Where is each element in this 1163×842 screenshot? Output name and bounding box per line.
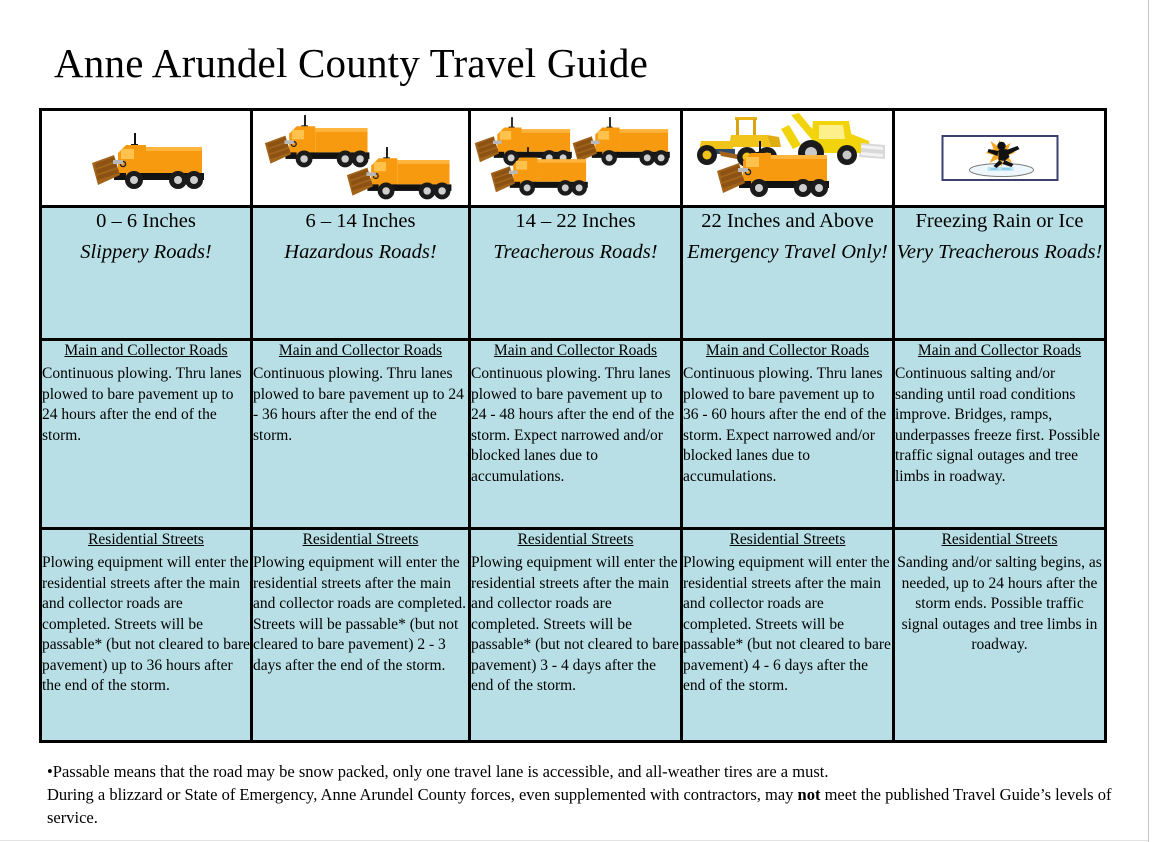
- main-roads-text-5: Continuous salting and/or sanding until …: [895, 364, 1104, 487]
- main-roads-heading-3: Main and Collector Roads: [471, 341, 680, 361]
- main-roads-cell-4: Main and Collector Roads Continuous plow…: [682, 340, 894, 529]
- category-cell-1: 0 – 6 Inches Slippery Roads!: [41, 207, 252, 340]
- category-condition-3: Treacherous Roads!: [471, 239, 680, 266]
- category-condition-5: Very Treacherous Roads!: [895, 239, 1104, 266]
- table-row-icons: [41, 110, 1106, 207]
- category-depth-5: Freezing Rain or Ice: [895, 208, 1104, 235]
- main-roads-heading-4: Main and Collector Roads: [683, 341, 892, 361]
- snow-plow-truck-icon: [713, 141, 837, 203]
- page-edge-right: [1148, 0, 1149, 842]
- category-condition-2: Hazardous Roads!: [253, 239, 468, 266]
- snow-plow-truck-icon: [90, 133, 210, 195]
- main-roads-heading-2: Main and Collector Roads: [253, 341, 468, 361]
- person-slipping-on-ice-glyph: [943, 137, 1056, 179]
- residential-heading-1: Residential Streets: [42, 530, 250, 550]
- main-roads-cell-3: Main and Collector Roads Continuous plow…: [470, 340, 682, 529]
- person-slipping-on-ice-icon: [941, 135, 1058, 181]
- footnote-line-2-part-a: During a blizzard or State of Emergency,…: [47, 785, 798, 804]
- snow-plow-truck-icon: [42, 111, 250, 205]
- icon-cell-6-14-inches: [252, 110, 470, 207]
- category-condition-1: Slippery Roads!: [42, 239, 250, 266]
- icon-cell-freezing-rain-or-ice: [894, 110, 1106, 207]
- residential-heading-5: Residential Streets: [895, 530, 1104, 550]
- icon-cell-14-22-inches: [470, 110, 682, 207]
- snow-plow-truck-icon: [345, 147, 457, 205]
- category-cell-3: 14 – 22 Inches Treacherous Roads!: [470, 207, 682, 340]
- residential-heading-3: Residential Streets: [471, 530, 680, 550]
- main-roads-cell-2: Main and Collector Roads Continuous plow…: [252, 340, 470, 529]
- category-depth-1: 0 – 6 Inches: [42, 208, 250, 235]
- table-row-residential-streets: Residential Streets Plowing equipment wi…: [41, 529, 1106, 742]
- category-depth-4: 22 Inches and Above: [683, 208, 892, 235]
- residential-text-5: Sanding and/or salting begins, as needed…: [895, 553, 1104, 656]
- main-roads-heading-1: Main and Collector Roads: [42, 341, 250, 361]
- table-row-main-collector-roads: Main and Collector Roads Continuous plow…: [41, 340, 1106, 529]
- category-condition-4: Emergency Travel Only!: [683, 239, 892, 266]
- page-title: Anne Arundel County Travel Guide: [54, 38, 648, 88]
- page-edge-bottom: [0, 840, 1148, 841]
- footnote-line-1: •Passable means that the road may be sno…: [47, 760, 1117, 783]
- main-roads-heading-5: Main and Collector Roads: [895, 341, 1104, 361]
- residential-text-1: Plowing equipment will enter the residen…: [42, 553, 250, 697]
- category-cell-2: 6 – 14 Inches Hazardous Roads!: [252, 207, 470, 340]
- footnote: •Passable means that the road may be sno…: [47, 760, 1117, 829]
- residential-cell-3: Residential Streets Plowing equipment wi…: [470, 529, 682, 742]
- category-cell-5: Freezing Rain or Ice Very Treacherous Ro…: [894, 207, 1106, 340]
- main-roads-text-3: Continuous plowing. Thru lanes plowed to…: [471, 364, 680, 487]
- residential-cell-2: Residential Streets Plowing equipment wi…: [252, 529, 470, 742]
- table-row-categories: 0 – 6 Inches Slippery Roads! 6 – 14 Inch…: [41, 207, 1106, 340]
- travel-guide-table: 0 – 6 Inches Slippery Roads! 6 – 14 Inch…: [39, 108, 1107, 743]
- residential-heading-2: Residential Streets: [253, 530, 468, 550]
- category-depth-2: 6 – 14 Inches: [253, 208, 468, 235]
- residential-text-4: Plowing equipment will enter the residen…: [683, 553, 892, 697]
- category-cell-4: 22 Inches and Above Emergency Travel Onl…: [682, 207, 894, 340]
- footnote-line-2: During a blizzard or State of Emergency,…: [47, 783, 1117, 829]
- residential-heading-4: Residential Streets: [683, 530, 892, 550]
- category-depth-3: 14 – 22 Inches: [471, 208, 680, 235]
- main-roads-text-1: Continuous plowing. Thru lanes plowed to…: [42, 364, 250, 446]
- main-roads-text-2: Continuous plowing. Thru lanes plowed to…: [253, 364, 468, 446]
- residential-cell-1: Residential Streets Plowing equipment wi…: [41, 529, 252, 742]
- main-roads-text-4: Continuous plowing. Thru lanes plowed to…: [683, 364, 892, 487]
- main-roads-cell-5: Main and Collector Roads Continuous salt…: [894, 340, 1106, 529]
- main-roads-cell-1: Main and Collector Roads Continuous plow…: [41, 340, 252, 529]
- residential-text-2: Plowing equipment will enter the residen…: [253, 553, 468, 676]
- residential-cell-4: Residential Streets Plowing equipment wi…: [682, 529, 894, 742]
- residential-cell-5: Residential Streets Sanding and/or salti…: [894, 529, 1106, 742]
- residential-text-3: Plowing equipment will enter the residen…: [471, 553, 680, 697]
- snow-plow-truck-icon: [489, 147, 593, 201]
- footnote-emphasis-not: not: [798, 785, 821, 804]
- icon-cell-0-6-inches: [41, 110, 252, 207]
- icon-cell-22-inches-and-above: [682, 110, 894, 207]
